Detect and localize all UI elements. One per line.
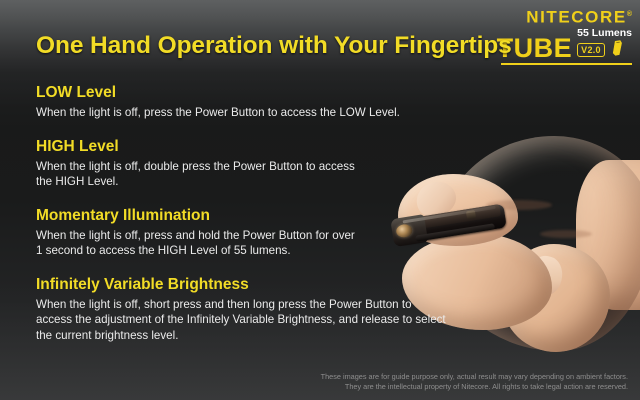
section-body: When the light is off, short press and t…	[36, 297, 456, 344]
middle-finger-shape	[502, 244, 610, 352]
hand-crease	[540, 230, 592, 238]
section-low-level: LOW Level When the light is off, press t…	[36, 84, 466, 121]
page-title: One Hand Operation with Your Fingertips	[36, 32, 512, 60]
section-body-line: the current brightness level.	[36, 328, 456, 344]
section-body-line: 1 second to access the HIGH Level of 55 …	[36, 243, 456, 259]
nitecore-wordmark: NITECORE®	[482, 6, 632, 26]
section-body: When the light is off, double press the …	[36, 159, 456, 190]
section-body: When the light is off, press the Power B…	[36, 105, 456, 121]
nitecore-wordmark-text: NITECORE	[526, 8, 627, 27]
section-body-line: When the light is off, short press and t…	[36, 297, 456, 313]
section-body: When the light is off, press and hold th…	[36, 228, 456, 259]
section-body-line: access the adjustment of the Infinitely …	[36, 312, 456, 328]
registered-trademark-icon: ®	[627, 11, 632, 18]
section-body-line: When the light is off, press and hold th…	[36, 228, 456, 244]
section-high-level: HIGH Level When the light is off, double…	[36, 138, 466, 190]
section-body-line: When the light is off, press the Power B…	[36, 105, 456, 121]
footer-line-1: These images are for guide purpose only,…	[321, 372, 628, 382]
section-heading: LOW Level	[36, 84, 466, 102]
section-infinitely-variable-brightness: Infinitely Variable Brightness When the …	[36, 276, 466, 344]
slide-root: NITECORE® TUBE 55 Lumens V2.0 One Han	[0, 0, 640, 400]
section-heading: Infinitely Variable Brightness	[36, 276, 466, 294]
logo-underline-rule	[501, 63, 632, 65]
footer-disclaimer: These images are for guide purpose only,…	[321, 372, 628, 392]
section-body-line: the HIGH Level.	[36, 174, 456, 190]
footer-line-2: They are the intellectual property of Ni…	[321, 382, 628, 392]
hand-crease	[486, 200, 552, 210]
power-button	[466, 210, 476, 219]
section-heading: HIGH Level	[36, 138, 466, 156]
section-momentary-illumination: Momentary Illumination When the light is…	[36, 207, 466, 259]
middle-finger-nail	[524, 253, 566, 299]
section-body-line: When the light is off, double press the …	[36, 159, 456, 175]
palm-shape	[438, 136, 640, 351]
lumens-label: 55 Lumens	[577, 27, 632, 39]
badge-row: V2.0	[577, 40, 632, 61]
section-heading: Momentary Illumination	[36, 207, 466, 225]
version-badge: V2.0	[577, 43, 605, 57]
product-specs: 55 Lumens V2.0	[577, 27, 632, 61]
wrist-shape	[576, 160, 640, 310]
instruction-sections: LOW Level When the light is off, press t…	[36, 84, 466, 343]
flashlight-tube-icon	[612, 40, 623, 61]
